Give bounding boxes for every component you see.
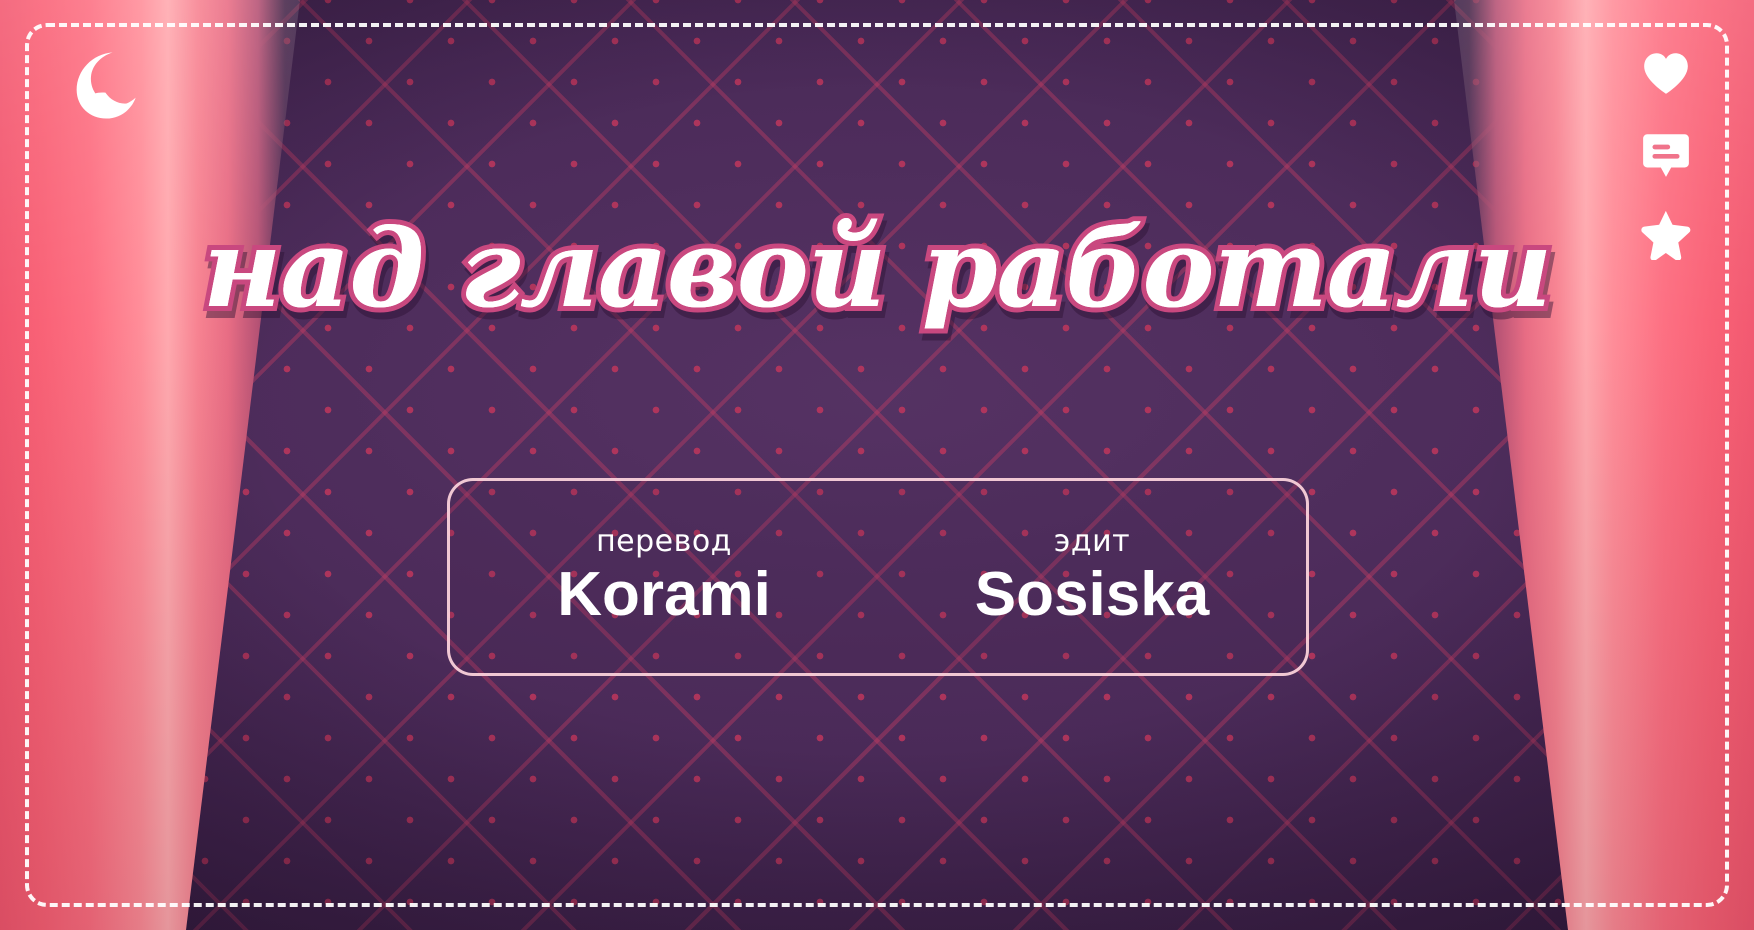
heart-icon[interactable] bbox=[1640, 48, 1692, 100]
title-block: над главой работали над главой работали bbox=[0, 212, 1754, 326]
credit-entry-editor: эдит Sosiska bbox=[878, 525, 1306, 629]
crescent-moon-icon[interactable] bbox=[68, 48, 140, 120]
credits-slide: над главой работали над главой работали … bbox=[0, 0, 1754, 930]
credit-name-value: Sosiska bbox=[975, 560, 1209, 629]
credits-columns: перевод Korami эдит Sosiska bbox=[450, 481, 1306, 673]
comment-icon[interactable] bbox=[1640, 128, 1692, 180]
credit-role-label: перевод bbox=[596, 525, 732, 558]
credit-role-label: эдит bbox=[1054, 525, 1130, 558]
page-title: над главой работали bbox=[203, 212, 1552, 326]
credits-card: перевод Korami эдит Sosiska bbox=[447, 478, 1309, 676]
credit-entry-translator: перевод Korami bbox=[450, 525, 878, 629]
credit-name-value: Korami bbox=[557, 560, 771, 629]
